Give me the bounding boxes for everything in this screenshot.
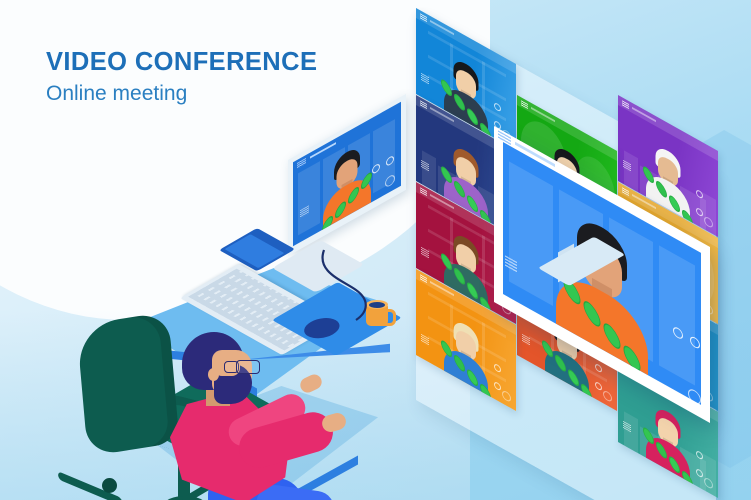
person-hand bbox=[298, 372, 324, 395]
minimize-icon[interactable] bbox=[673, 325, 683, 341]
illustration-canvas: VIDEO CONFERENCE Online meeting bbox=[0, 0, 751, 500]
chair-caster bbox=[102, 478, 117, 493]
page-title: VIDEO CONFERENCE bbox=[46, 48, 317, 76]
window-grip-icon bbox=[297, 158, 306, 169]
headline-block: VIDEO CONFERENCE Online meeting bbox=[46, 48, 317, 105]
desk-scene bbox=[60, 150, 480, 490]
monitor-cable bbox=[312, 246, 392, 336]
maximize-icon[interactable] bbox=[386, 155, 394, 167]
page-subtitle: Online meeting bbox=[46, 82, 317, 105]
minimize-icon[interactable] bbox=[372, 163, 380, 175]
maximize-icon[interactable] bbox=[690, 335, 700, 351]
glasses-icon bbox=[236, 360, 260, 374]
seated-person bbox=[152, 328, 322, 500]
person-ear bbox=[208, 368, 219, 381]
